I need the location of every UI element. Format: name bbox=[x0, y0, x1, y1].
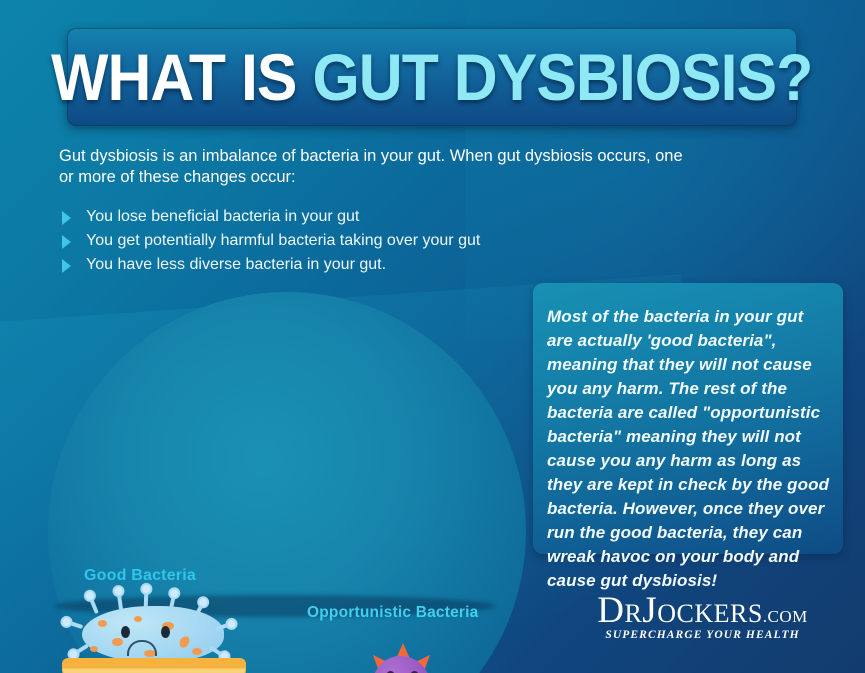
title-part-highlight: GUT DYSBIOSIS? bbox=[313, 40, 813, 114]
logo-r: R bbox=[624, 599, 642, 628]
tentacle-icon bbox=[144, 592, 149, 608]
title-part-white: WHAT IS bbox=[51, 40, 312, 114]
body-spot bbox=[192, 648, 202, 655]
eye-icon bbox=[161, 626, 170, 638]
list-item: You lose beneficial bacteria in your gut bbox=[62, 208, 682, 226]
opportunistic-bacteria-label: Opportunistic Bacteria bbox=[307, 604, 479, 622]
body-spot bbox=[112, 638, 123, 646]
pan-dish bbox=[62, 658, 246, 673]
list-item-label: You lose beneficial bacteria in your gut bbox=[86, 208, 359, 226]
callout-text: Most of the bacteria in your gut are act… bbox=[547, 305, 832, 593]
body-spot bbox=[134, 616, 142, 622]
logo-j: J bbox=[642, 590, 657, 631]
logo-ockers: OCKERS bbox=[657, 599, 763, 628]
arrow-right-icon bbox=[62, 211, 72, 225]
body-spot bbox=[98, 620, 107, 627]
scale-pan-good bbox=[62, 658, 246, 673]
intro-paragraph: Gut dysbiosis is an imbalance of bacteri… bbox=[59, 146, 684, 188]
list-item: You get potentially harmful bacteria tak… bbox=[62, 232, 682, 250]
balance-scale-illustration: Good Bacteria Opportunistic Bacteria bbox=[0, 262, 530, 673]
page-title: WHAT IS GUT DYSBIOSIS? bbox=[51, 44, 812, 110]
logo-tagline: SUPERCHARGE YOUR HEALTH bbox=[580, 629, 825, 641]
brand-logo[interactable]: DRJOCKERS.COM SUPERCHARGE YOUR HEALTH bbox=[580, 592, 825, 648]
callout-box: Most of the bacteria in your gut are act… bbox=[533, 283, 843, 554]
eye-icon bbox=[121, 626, 130, 638]
list-item-label: You get potentially harmful bacteria tak… bbox=[86, 232, 480, 250]
tentacle-icon bbox=[75, 644, 89, 655]
good-bacteria-label: Good Bacteria bbox=[84, 567, 196, 585]
logo-dotcom: .COM bbox=[763, 607, 808, 626]
title-banner: WHAT IS GUT DYSBIOSIS? bbox=[67, 28, 797, 126]
arrow-right-icon bbox=[62, 235, 72, 249]
body-spot bbox=[90, 646, 98, 652]
good-bacteria-character bbox=[72, 602, 234, 664]
logo-d: D bbox=[597, 590, 624, 631]
infographic-page: WHAT IS GUT DYSBIOSIS? Gut dysbiosis is … bbox=[0, 0, 865, 673]
bad-bacteria-purple-character bbox=[360, 647, 442, 673]
